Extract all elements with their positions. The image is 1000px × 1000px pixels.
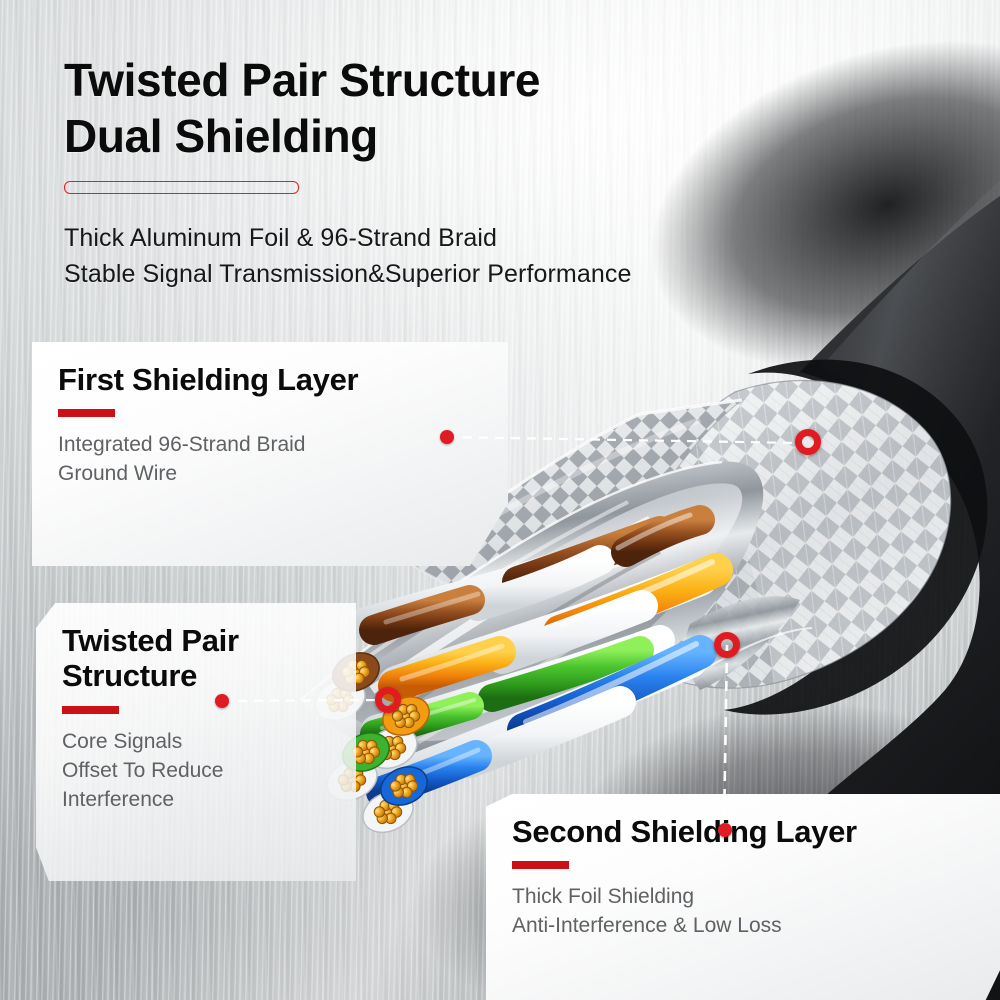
leader-dot-twisted-pair <box>215 694 229 708</box>
leader-line-3 <box>724 645 727 829</box>
infographic-canvas: Twisted Pair Structure Dual Shielding Th… <box>0 0 1000 1000</box>
leader-dot-first-shielding <box>440 430 454 444</box>
leader-ring-twisted-pair <box>375 687 401 713</box>
leader-line-1 <box>447 437 800 443</box>
leader-dot-second-shielding <box>718 823 732 837</box>
leader-lines <box>0 0 1000 1000</box>
leader-ring-braid-shield <box>795 429 821 455</box>
leader-line-2 <box>222 700 382 701</box>
leader-ring-foil-shield <box>714 632 740 658</box>
